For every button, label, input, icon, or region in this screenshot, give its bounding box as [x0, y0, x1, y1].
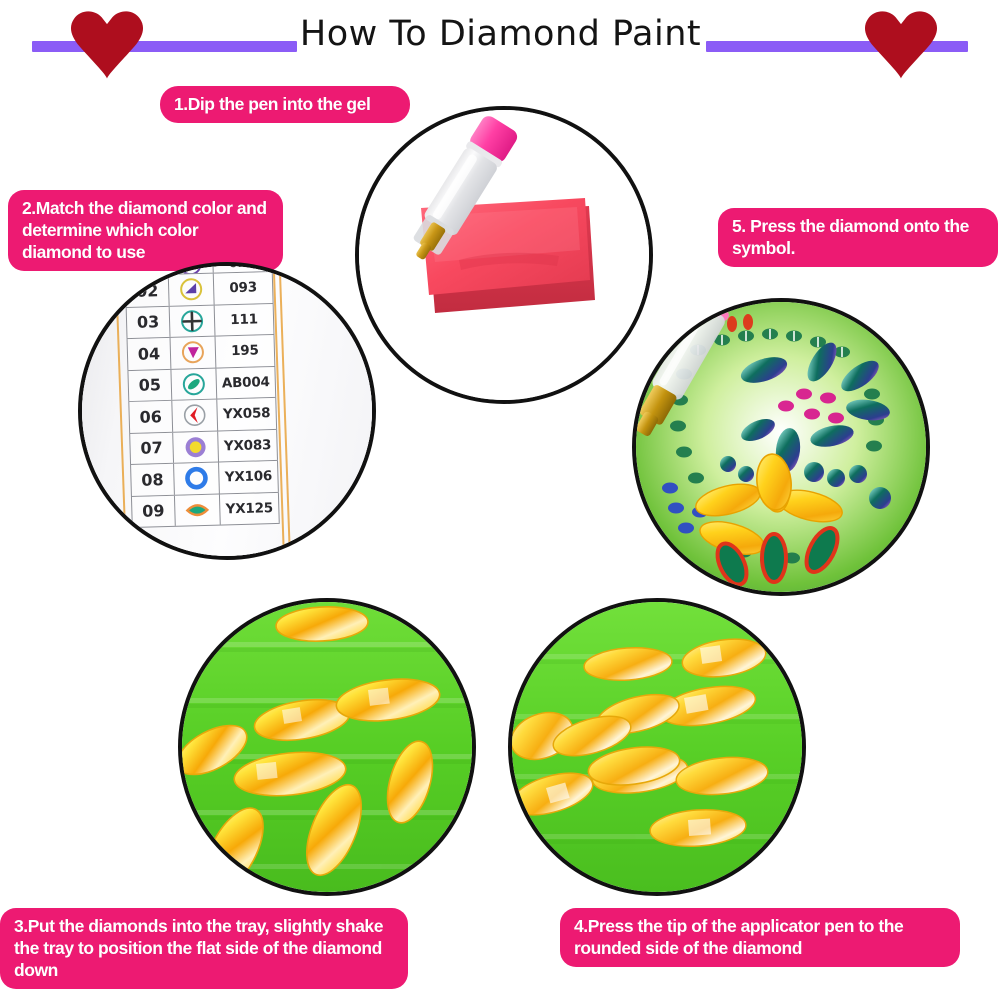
pen-picking-diamond-photo [508, 598, 806, 896]
color-chart-code: YX083 [218, 429, 278, 461]
color-chart-row: 08 YX106 [130, 461, 279, 497]
filled-triangle-circle-icon [169, 274, 215, 306]
blue-donut-icon [174, 463, 220, 495]
plus-circle-icon [170, 305, 216, 337]
color-chart-code: YX125 [220, 492, 280, 524]
color-chart-code: AB004 [216, 366, 276, 398]
left-chevron-circle-icon [172, 400, 218, 432]
page-title: How To Diamond Paint [0, 14, 1001, 54]
color-chart-number: 07 [129, 432, 174, 464]
green-leaf-orange-outline-icon [175, 494, 221, 526]
color-chart-row: 03 111 [126, 303, 275, 339]
color-chart-code: YX058 [217, 398, 277, 430]
header-banner: How To Diamond Paint [0, 0, 1001, 78]
color-chart-row: 04 195 [127, 335, 276, 371]
color-chart-row: 02 093 [125, 272, 274, 308]
color-chart-row: 09 YX125 [131, 492, 280, 528]
color-chart-row: 07 YX083 [129, 429, 278, 465]
magenta-triangle-circle-icon [171, 337, 217, 369]
diamonds-in-tray-photo [178, 598, 476, 896]
color-chart-number: 06 [128, 401, 173, 433]
color-chart-number: 08 [130, 464, 175, 496]
color-chart-number: 03 [126, 306, 171, 338]
color-chart-photo: 01 02002 09303 11104 19505 AB00406 [78, 262, 376, 560]
yellow-dot-purple-ring-icon [173, 431, 219, 463]
color-chart-number: 09 [131, 495, 176, 527]
color-chart-number: 04 [127, 338, 172, 370]
color-chart-number: 05 [127, 369, 172, 401]
step-3-label: 3.Put the diamonds into the tray, slight… [0, 908, 408, 989]
color-chart-code: YX106 [219, 461, 279, 493]
color-chart-row: 06 YX058 [128, 398, 277, 434]
color-chart-row: 05 AB004 [127, 366, 276, 402]
color-chart-number: 02 [125, 275, 170, 307]
color-chart-paper: 01 02002 09303 11104 19505 AB00406 [82, 266, 372, 556]
color-chart-code: 111 [215, 303, 275, 335]
placing-diamond-on-canvas-photo [632, 298, 930, 596]
color-chart-table: 01 02002 09303 11104 19505 AB00406 [124, 262, 280, 528]
pen-dipping-into-gel-photo [355, 106, 653, 404]
color-chart-code: 195 [216, 335, 276, 367]
color-chart-code: 093 [214, 272, 274, 304]
step-5-label: 5. Press the diamond onto the symbol. [718, 208, 998, 267]
step-1-label: 1.Dip the pen into the gel [160, 86, 410, 123]
step-4-label: 4.Press the tip of the applicator pen to… [560, 908, 960, 967]
infographic-canvas: How To Diamond Paint 1.Dip the pen into … [0, 0, 1001, 1001]
step-2-label: 2.Match the diamond color and determine … [8, 190, 283, 271]
slash-oval-circle-icon [171, 368, 217, 400]
